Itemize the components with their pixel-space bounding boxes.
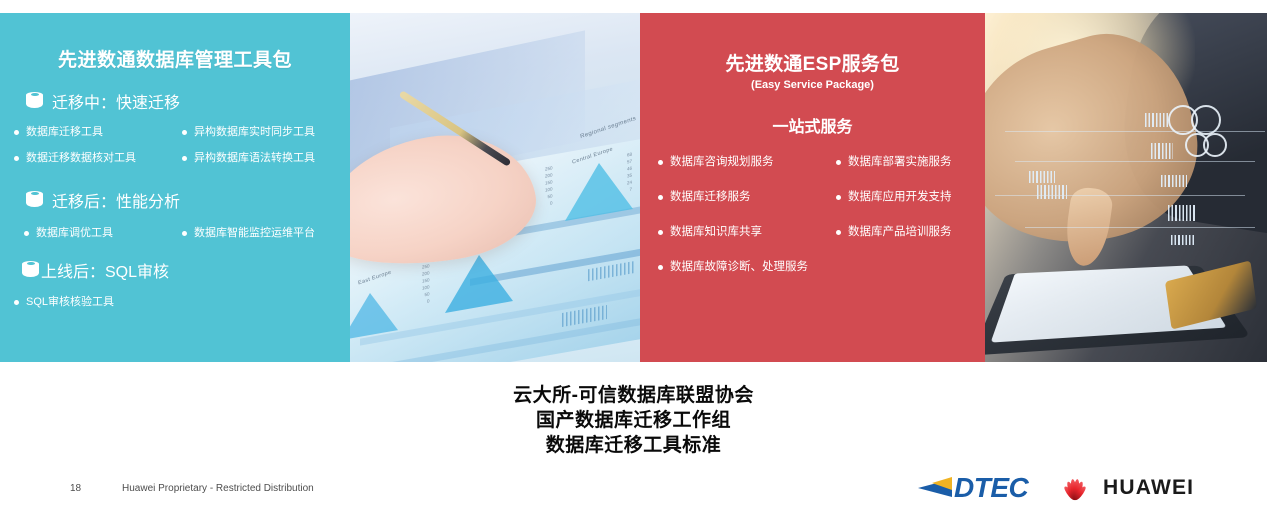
list-item-label: 数据库产品培训服务 [848, 225, 952, 239]
dtec-arrow-icon [918, 475, 958, 501]
list-item: 数据库迁移工具 [0, 119, 168, 145]
list-item: 数据库应用开发支持 [818, 184, 985, 210]
bullet-dot-icon [14, 156, 19, 161]
section-heading-migration: 迁移中：快速迁移 [0, 89, 350, 113]
bullet-dot-icon [658, 160, 663, 165]
photo-hud-line [1005, 131, 1265, 132]
huawei-logo: HUAWEI [1058, 474, 1194, 502]
photo-hud-bars [1168, 205, 1196, 221]
list-item: 数据迁移数据核对工具 [0, 145, 168, 171]
bullet-dot-icon [14, 130, 19, 135]
list-item: 数据库智能监控运维平台 [168, 220, 350, 246]
huawei-wordmark: HUAWEI [1103, 476, 1194, 500]
bullet-dot-icon [836, 160, 841, 165]
photo-hud-line [995, 195, 1245, 196]
analytics-photo: Regional segments Central Europe West Eu… [350, 13, 642, 362]
bullet-group-migration: 数据库迁移工具 异构数据库实时同步工具 数据迁移数据核对工具 异构数据库语法转换… [0, 119, 350, 171]
list-item-label: 数据库智能监控运维平台 [194, 226, 315, 240]
list-item: 数据库调优工具 [0, 220, 168, 246]
photo-axis-ticks: 68574635247 [627, 151, 632, 194]
huawei-flower-icon [1058, 475, 1092, 501]
photo-hud-bars [1037, 185, 1067, 199]
list-item: 数据库产品培训服务 [818, 219, 985, 245]
list-item-label: 数据库部署实施服务 [848, 155, 952, 169]
photo-axis-ticks: 250200150100500 [422, 262, 430, 305]
footer-line-3: 数据库迁移工具标准 [0, 433, 1267, 458]
esp-tagline: 一站式服务 [640, 113, 985, 137]
bullet-dot-icon [182, 231, 187, 236]
database-icon [26, 92, 43, 111]
list-item-label: 数据库迁移服务 [670, 190, 751, 204]
photo-hud-bars [1171, 235, 1195, 245]
photo-hud-ring [1203, 133, 1227, 157]
photo-hud-line [1025, 227, 1255, 228]
list-item-label: 数据库知识库共享 [670, 225, 762, 239]
photo-hud-bars [1029, 171, 1055, 183]
tools-package-panel: 先进数通数据库管理工具包 迁移中：快速迁移 数据库迁移工具 异构数据库实时同步工… [0, 13, 350, 362]
bullet-dot-icon [182, 156, 187, 161]
tablet-photo [985, 13, 1267, 362]
tools-package-title: 先进数通数据库管理工具包 [0, 45, 350, 72]
database-icon [22, 261, 39, 280]
page-number: 18 [70, 483, 81, 494]
list-item-label: 数据库应用开发支持 [848, 190, 952, 204]
bullet-dot-icon [658, 230, 663, 235]
bullet-group-performance: 数据库调优工具 数据库智能监控运维平台 [0, 220, 350, 246]
list-item-label: 数据库咨询规划服务 [670, 155, 774, 169]
section-heading-performance: 迁移后：性能分析 [0, 188, 350, 212]
list-item: 数据库部署实施服务 [818, 149, 985, 175]
section-heading-sql-audit: 上线后：SQL审核 [0, 258, 350, 282]
database-icon [26, 191, 43, 210]
slide-canvas: Regional segments Central Europe West Eu… [0, 0, 1267, 510]
bullet-dot-icon [836, 230, 841, 235]
bullet-group-sql-audit: SQL审核核验工具 [0, 289, 350, 315]
list-item-label: 数据库调优工具 [36, 226, 113, 240]
list-item-label: 数据库故障诊断、处理服务 [670, 260, 808, 274]
list-item: 数据库知识库共享 [640, 219, 818, 245]
list-item-label: SQL审核核验工具 [26, 295, 114, 309]
list-item: 数据库故障诊断、处理服务 [640, 254, 985, 280]
list-item: 异构数据库实时同步工具 [168, 119, 350, 145]
dtec-logo: DTEC [918, 473, 1028, 503]
section-heading-label: 迁移后：性能分析 [52, 188, 180, 212]
bullet-dot-icon [836, 195, 841, 200]
banner-strip: Regional segments Central Europe West Eu… [0, 13, 1267, 362]
list-item-label: 异构数据库实时同步工具 [194, 125, 315, 139]
bullet-dot-icon [14, 300, 19, 305]
section-heading-label: 迁移中：快速迁移 [52, 89, 180, 113]
list-item: 数据库迁移服务 [640, 184, 818, 210]
bullet-dot-icon [182, 130, 187, 135]
bullet-dot-icon [24, 231, 29, 236]
photo-hud-bars [1161, 175, 1187, 187]
photo-hud-bars [1151, 143, 1173, 159]
photo-axis-ticks: 250200150100500 [545, 164, 553, 207]
list-item-label: 数据库迁移工具 [26, 125, 103, 139]
list-item: SQL审核核验工具 [0, 289, 350, 315]
photo-hud-bars [1145, 113, 1169, 127]
bullet-dot-icon [658, 195, 663, 200]
section-heading-label: 上线后：SQL审核 [41, 258, 169, 282]
list-item: 数据库咨询规划服务 [640, 149, 818, 175]
photo-hud-line [1015, 161, 1255, 162]
footer-line-2: 国产数据库迁移工作组 [0, 408, 1267, 433]
esp-service-panel: 先进数通ESP服务包 (Easy Service Package) 一站式服务 … [640, 13, 985, 362]
list-item: 异构数据库语法转换工具 [168, 145, 350, 171]
confidentiality-notice: Huawei Proprietary - Restricted Distribu… [122, 483, 314, 494]
bullet-dot-icon [658, 265, 663, 270]
list-item-label: 异构数据库语法转换工具 [194, 151, 315, 165]
footer-headline: 云大所-可信数据库联盟协会 国产数据库迁移工作组 数据库迁移工具标准 [0, 383, 1267, 458]
bullet-group-esp: 数据库咨询规划服务 数据库部署实施服务 数据库迁移服务 数据库应用开发支持 数据… [640, 149, 985, 280]
esp-title: 先进数通ESP服务包 [640, 49, 985, 76]
footer-line-1: 云大所-可信数据库联盟协会 [0, 383, 1267, 408]
dtec-wordmark: DTEC [954, 472, 1028, 504]
list-item-label: 数据迁移数据核对工具 [26, 151, 136, 165]
esp-subtitle: (Easy Service Package) [640, 79, 985, 91]
